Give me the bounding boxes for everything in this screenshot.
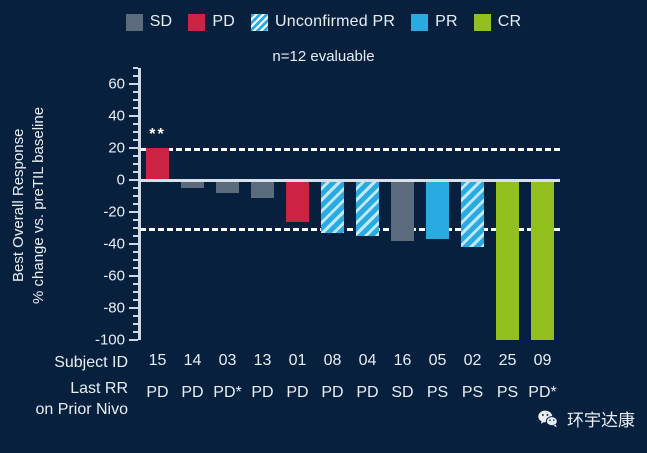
y-tick-minor [133,235,138,237]
bar [286,180,309,222]
y-tick-label: -80 [103,300,125,317]
y-tick-minor [133,195,138,197]
last-rr-cell: PS [462,384,483,402]
square-swatch-icon [126,14,143,31]
subject-id-cell: 03 [219,352,237,370]
y-tick-minor [133,299,138,301]
legend-label: SD [150,13,173,31]
last-rr-cell: SD [391,384,413,402]
chart-legend: SDPDUnconfirmed PRPRCR [0,13,647,31]
subject-id-cell: 05 [429,352,447,370]
watermark-text: 环宇达康 [567,406,635,431]
legend-entry: SD [126,13,173,31]
bar-annotation-asterisk: ** [149,126,165,144]
last-rr-cell: PD* [213,384,241,402]
striped-square-swatch-icon [251,14,268,31]
y-tick-major [129,211,138,213]
y-tick-major [129,179,138,181]
y-tick-minor [133,123,138,125]
y-tick-minor [133,219,138,221]
subject-id-row-label: Subject ID [54,352,128,373]
bar [461,180,484,247]
legend-label: Unconfirmed PR [275,13,395,31]
y-tick-major [129,339,138,341]
evaluable-count-annotation: n=12 evaluable [0,48,647,65]
square-swatch-icon [188,14,205,31]
y-tick-minor [133,107,138,109]
subject-id-cell: 25 [499,352,517,370]
y-tick-minor [133,251,138,253]
y-tick-minor [133,291,138,293]
subject-id-cell: 04 [359,352,377,370]
y-tick-major [129,147,138,149]
y-tick-label: -60 [103,268,125,285]
square-swatch-icon [411,14,428,31]
y-tick-minor [133,323,138,325]
y-tick-minor [133,139,138,141]
subject-id-cell: 14 [184,352,202,370]
y-tick-minor [133,283,138,285]
y-tick-major [129,115,138,117]
y-axis-spine [138,68,141,340]
y-tick-label: 60 [108,76,125,93]
y-axis-title-line-2: % change vs. preTIL baseline [30,60,47,350]
waterfall-chart-figure: SDPDUnconfirmed PRPRCR n=12 evaluable Be… [0,0,647,453]
subject-id-cell: 08 [324,352,342,370]
square-swatch-icon [474,14,491,31]
subject-id-cell: 13 [254,352,272,370]
y-tick-label: -40 [103,236,125,253]
y-tick-minor [133,163,138,165]
subject-id-cell: 01 [289,352,307,370]
legend-entry: CR [474,13,522,31]
last-rr-cell: PD [251,384,273,402]
y-tick-minor [133,267,138,269]
bar [321,180,344,233]
y-tick-minor [133,75,138,77]
wechat-icon [537,408,559,430]
y-tick-major [129,307,138,309]
legend-entry: Unconfirmed PR [251,13,395,31]
y-tick-minor [133,203,138,205]
last-rr-cell: PD [286,384,308,402]
zero-baseline [140,179,560,182]
legend-label: PR [435,13,458,31]
y-tick-major [129,275,138,277]
last-rr-row-label-line-2: on Prior Nivo [36,399,128,420]
y-tick-minor [133,91,138,93]
subject-id-cell: 09 [534,352,552,370]
y-tick-minor [133,171,138,173]
y-tick-minor [133,331,138,333]
bar [496,180,519,340]
subject-id-cell: 02 [464,352,482,370]
reference-line [140,148,560,151]
last-rr-cell: PD [321,384,343,402]
legend-label: CR [498,13,522,31]
bar [251,180,274,198]
bar [391,180,414,241]
y-tick-label: -20 [103,204,125,221]
y-axis-title-line-1: Best Overall Response [10,60,27,350]
y-tick-minor [133,131,138,133]
last-rr-cell: PD* [528,384,556,402]
last-rr-cell: PS [427,384,448,402]
bar [426,180,449,239]
y-axis-title: Best Overall Response % change vs. preTI… [6,60,54,350]
y-tick-label: -100 [95,332,125,349]
bar [146,148,169,180]
last-rr-cell: PD [146,384,168,402]
plot-area: 6040200-20-40-60-80-100 ** [140,68,560,340]
legend-entry: PR [411,13,458,31]
watermark: 环宇达康 [537,406,635,431]
y-tick-label: 40 [108,108,125,125]
y-tick-minor [133,187,138,189]
last-rr-cell: PD [356,384,378,402]
subject-id-cell: 15 [149,352,167,370]
y-tick-minor [133,259,138,261]
y-tick-minor [133,227,138,229]
subject-id-cell: 16 [394,352,412,370]
legend-entry: PD [188,13,235,31]
y-tick-minor [133,155,138,157]
last-rr-cell: PD [181,384,203,402]
bar [356,180,379,236]
y-tick-label: 0 [117,172,125,189]
last-rr-row-label-line-1: Last RR [70,378,128,399]
y-tick-label: 20 [108,140,125,157]
legend-label: PD [212,13,235,31]
y-tick-major [129,83,138,85]
y-tick-minor [133,99,138,101]
y-tick-major [129,243,138,245]
bar [531,180,554,340]
y-tick-minor [133,315,138,317]
y-tick-minor [133,67,138,69]
last-rr-cell: PS [497,384,518,402]
